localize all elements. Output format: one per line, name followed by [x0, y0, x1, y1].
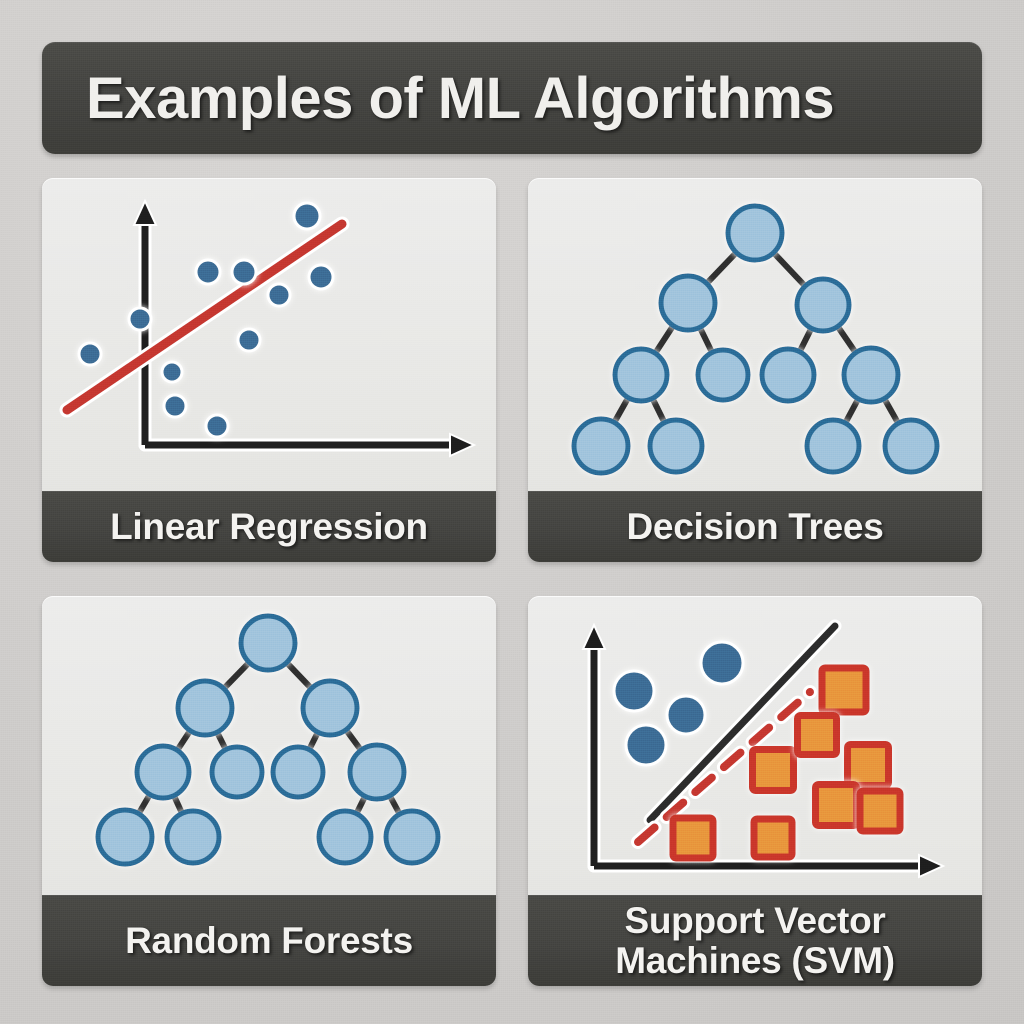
random-forest-node-root [241, 616, 295, 670]
random-forests-figure [42, 596, 496, 895]
random-forest-node-l1a [178, 681, 232, 735]
decision-tree-node-l2b [698, 350, 748, 400]
scatter-point-4 [196, 260, 220, 284]
svm-class-b-point-1 [822, 668, 866, 712]
decision-tree-node-root [728, 206, 782, 260]
card-svm[interactable]: Support Vector Machines (SVM) [528, 596, 982, 986]
tree-diagram-svg [42, 596, 496, 895]
regression-fit-line [67, 224, 342, 410]
scatter-point-7 [238, 329, 260, 351]
random-forest-node-l2c [273, 747, 323, 797]
card-label-text: Support Vector Machines (SVM) [607, 901, 903, 981]
card-label-linear-regression: Linear Regression [42, 491, 496, 562]
decision-tree-node-l2a [615, 349, 667, 401]
card-decision-trees[interactable]: Decision Trees [528, 178, 982, 562]
decision-tree-node-l3b [650, 420, 702, 472]
svm-class-b-point-7 [798, 716, 837, 755]
card-label-text: Random Forests [117, 921, 421, 961]
card-random-forests[interactable]: Random Forests [42, 596, 496, 986]
svm-class-a-point-0 [614, 671, 654, 711]
scatter-point-1 [129, 308, 151, 330]
svm-class-b-point-6 [753, 750, 794, 791]
scatter-point-6 [232, 260, 256, 284]
x-axis-arrowhead [919, 855, 943, 877]
x-axis-arrowhead [450, 434, 474, 456]
regression-line [67, 224, 342, 410]
random-forest-node-l2b [212, 747, 262, 797]
random-forest-node-l2d [350, 745, 404, 799]
scatter-point-8 [268, 284, 290, 306]
svm-class-b-point-0 [673, 818, 713, 858]
svm-class-a-point-2 [701, 642, 743, 684]
decision-tree-node-l3d [885, 420, 937, 472]
card-label-svm: Support Vector Machines (SVM) [528, 895, 982, 986]
card-label-decision-trees: Decision Trees [528, 491, 982, 562]
scatter-point-0 [79, 343, 101, 365]
svm-class-b-point-3 [816, 785, 857, 826]
scatter-point-5 [206, 415, 228, 437]
svm-class-b-point-2 [848, 745, 889, 786]
page-title-banner: Examples of ML Algorithms [42, 42, 982, 154]
scatter-point-10 [309, 265, 333, 289]
scatter-plot-svg [42, 178, 496, 491]
decision-tree-node-l3a [574, 419, 628, 473]
random-forest-node-l3b [167, 811, 219, 863]
card-label-text: Decision Trees [619, 507, 892, 547]
svm-class-b-point-5 [860, 791, 900, 831]
svm-class-a-point-1 [667, 696, 705, 734]
tree-edges [601, 233, 911, 446]
svm-class-a-point-3 [626, 725, 666, 765]
decision-tree-node-l3c [807, 420, 859, 472]
random-forest-node-l2a [137, 746, 189, 798]
card-linear-regression[interactable]: Linear Regression [42, 178, 496, 562]
decision-trees-figure [528, 178, 982, 491]
y-axis-arrowhead [134, 201, 156, 225]
decision-tree-node-l2c [762, 349, 814, 401]
tree-nodes [98, 616, 438, 864]
random-forest-node-l1b [303, 681, 357, 735]
random-forest-node-l3d [386, 811, 438, 863]
decision-tree-node-l2d [844, 348, 898, 402]
tree-nodes [574, 206, 937, 473]
linear-regression-figure [42, 178, 496, 491]
svm-plot-svg [528, 596, 982, 895]
page-background: Examples of ML Algorithms Linear Regress… [0, 0, 1024, 1024]
tree-diagram-svg [528, 178, 982, 491]
y-axis-arrowhead [583, 625, 605, 649]
scatter-point-3 [164, 395, 186, 417]
decision-tree-node-l1b [797, 279, 849, 331]
svm-class-b-point-4 [754, 819, 792, 857]
random-forest-node-l3a [98, 810, 152, 864]
page-title: Examples of ML Algorithms [86, 65, 834, 132]
scatter-point-9 [294, 203, 320, 229]
scatter-point-2 [162, 362, 182, 382]
card-label-random-forests: Random Forests [42, 895, 496, 986]
card-label-text: Linear Regression [102, 507, 436, 547]
random-forest-node-l3c [319, 811, 371, 863]
decision-tree-node-l1a [661, 276, 715, 330]
svm-figure [528, 596, 982, 895]
